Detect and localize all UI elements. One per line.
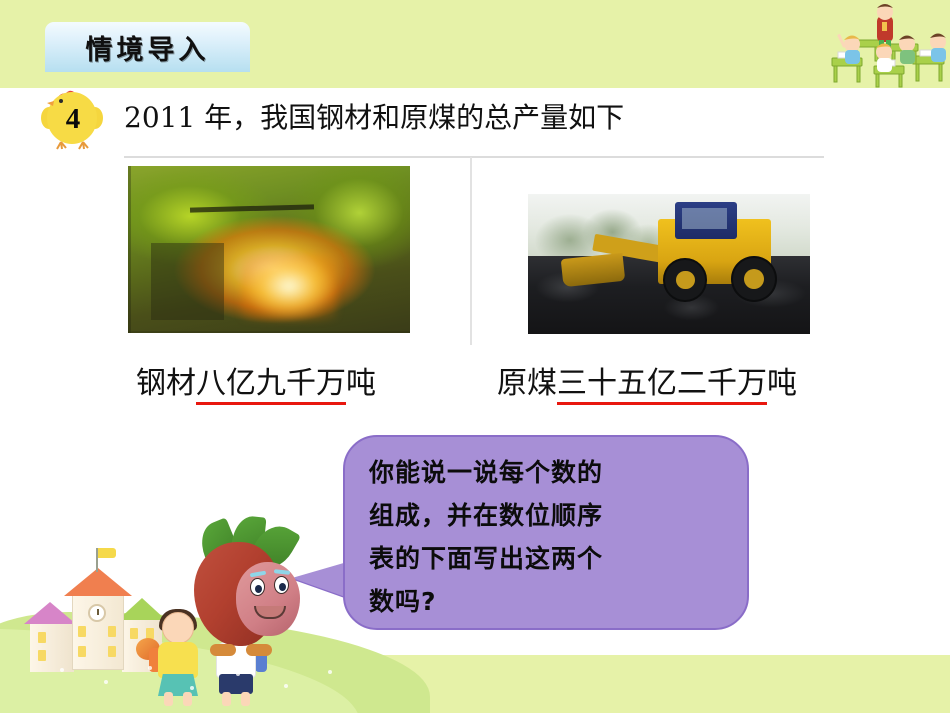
- speech-bubble-line: 组成，并在数位顺序: [369, 494, 735, 537]
- speech-bubble: 你能说一说每个数的 组成，并在数位顺序 表的下面写出这两个 数吗?: [343, 435, 749, 630]
- school-left-roof: [24, 602, 76, 624]
- coal-loader-photo: [528, 194, 810, 334]
- school-window: [38, 632, 46, 643]
- loader-front-wheel: [663, 258, 706, 301]
- molten-metal-glow: [241, 253, 337, 320]
- section-tab[interactable]: 情境导入: [45, 22, 250, 72]
- classroom-icon: [822, 0, 950, 88]
- loader-rear-wheel: [731, 256, 777, 302]
- item-number: 4: [36, 88, 108, 150]
- loader-cab: [675, 202, 737, 238]
- school-tower-roof: [64, 568, 132, 596]
- steel-caption: 钢材八亿九千万吨: [136, 358, 376, 402]
- clock-icon: [88, 604, 106, 622]
- chick-number-badge: 4: [36, 88, 108, 150]
- school-window: [108, 646, 116, 657]
- speech-bubble-line: 你能说一说每个数的: [369, 451, 735, 494]
- steel-caption-unit: 吨: [346, 366, 376, 401]
- speech-bubble-line: 数吗?: [369, 580, 735, 623]
- steel-caption-prefix: 钢材: [136, 366, 196, 401]
- radish-eye: [250, 578, 265, 596]
- radish-foot: [246, 644, 272, 656]
- speech-bubble-text: 你能说一说每个数的 组成，并在数位顺序 表的下面写出这两个 数吗?: [369, 451, 735, 623]
- vertical-divider: [470, 157, 472, 345]
- steel-caption-quantity: 八亿九千万: [196, 366, 346, 405]
- classroom-illustration: [822, 0, 950, 88]
- school-window: [78, 626, 86, 637]
- radish-foot: [210, 644, 236, 656]
- horizontal-divider: [124, 156, 824, 158]
- school-window: [108, 626, 116, 637]
- coal-caption-quantity: 三十五亿二千万: [557, 366, 767, 405]
- steel-mill-column: [151, 243, 224, 320]
- coal-caption: 原煤三十五亿二千万吨: [497, 358, 797, 402]
- school-window: [78, 646, 86, 657]
- radish-face: [236, 562, 300, 636]
- coal-caption-prefix: 原煤: [497, 366, 557, 401]
- steel-mill-photo: [128, 166, 410, 333]
- speech-bubble-line: 表的下面写出这两个: [369, 537, 735, 580]
- radish-eye: [274, 576, 289, 594]
- radish-mascot-illustration: [188, 528, 306, 656]
- grass-sparkles: [40, 660, 360, 706]
- flag-icon: [98, 548, 116, 558]
- school-window: [130, 628, 138, 639]
- section-tab-label: 情境导入: [86, 28, 210, 67]
- page-title: 2011 年，我国钢材和原煤的总产量如下: [124, 96, 624, 136]
- coal-caption-unit: 吨: [767, 366, 797, 401]
- slide-canvas: 情境导入 4 2011 年，我国钢材和原煤的总产量如下: [0, 0, 950, 713]
- loader-bucket: [561, 252, 626, 286]
